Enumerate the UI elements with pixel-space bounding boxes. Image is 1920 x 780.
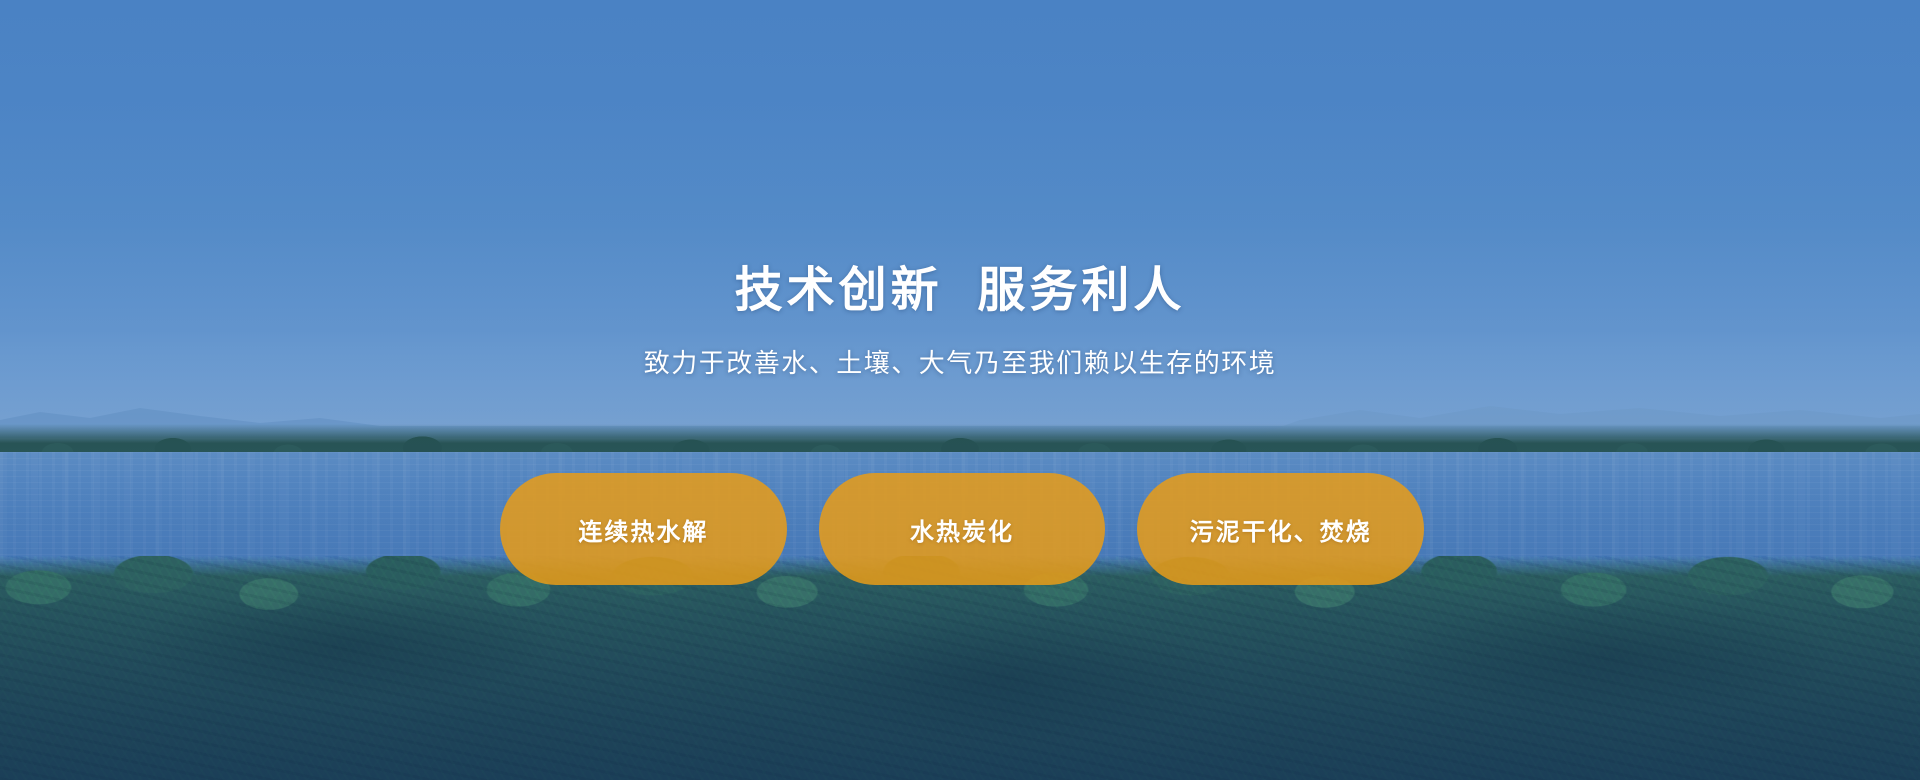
hero-background-photo (0, 0, 1920, 780)
service-pill-button-3[interactable]: 污泥干化、焚烧 (1137, 473, 1424, 585)
hero-title: 技术创新 服务利人 (0, 262, 1920, 320)
service-pill-button-1[interactable]: 连续热水解 (500, 473, 787, 585)
hero-subtitle: 致力于改善水、土壤、大气乃至我们赖以生存的环境 (0, 345, 1920, 381)
hero-banner: 技术创新 服务利人 致力于改善水、土壤、大气乃至我们赖以生存的环境 连续热水解 … (0, 0, 1920, 780)
service-pill-button-2[interactable]: 水热炭化 (819, 473, 1106, 585)
service-pill-row: 连续热水解 水热炭化 污泥干化、焚烧 (500, 473, 1424, 585)
mangrove-canopy-shading (0, 556, 1920, 780)
